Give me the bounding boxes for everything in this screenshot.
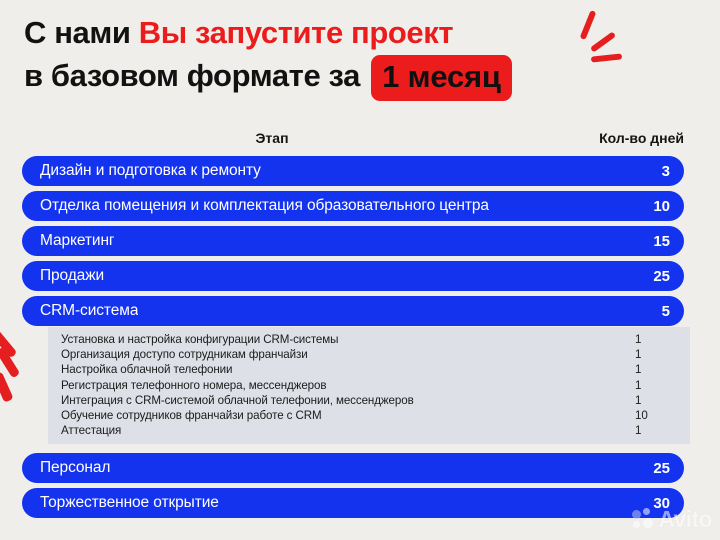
sublist-label: Интеграция с CRM-системой облачной телеф… bbox=[61, 394, 414, 407]
sublist-days: 10 bbox=[635, 409, 648, 422]
row-label: Дизайн и подготовка к ремонту bbox=[40, 162, 261, 180]
sublist-item: Аттестация 1 bbox=[48, 424, 690, 439]
sublist-item: Организация доступо сотрудникам франчайз… bbox=[48, 348, 690, 363]
sublist-days: 1 bbox=[635, 333, 641, 346]
row-days: 25 bbox=[653, 268, 670, 285]
sublist-item: Настройка облачной телефонии 1 bbox=[48, 363, 690, 378]
row-days: 25 bbox=[653, 460, 670, 477]
table-row-crm[interactable]: CRM-система 5 bbox=[22, 296, 684, 326]
row-days: 5 bbox=[662, 303, 670, 320]
title-line-1: С нами Вы запустите проект bbox=[24, 12, 624, 54]
sublist-item: Установка и настройка конфигурации CRM-с… bbox=[48, 333, 690, 348]
title-line-1-red: Вы запустите проект bbox=[139, 15, 453, 50]
sublist-label: Обучение сотрудников франчайзи работе с … bbox=[61, 409, 322, 422]
row-label: Персонал bbox=[40, 459, 110, 477]
crm-sublist-panel: Установка и настройка конфигурации CRM-с… bbox=[48, 327, 690, 444]
sublist-item: Интеграция с CRM-системой облачной телеф… bbox=[48, 394, 690, 409]
title-line-2-black: в базовом формате за bbox=[24, 58, 368, 93]
column-header-days: Кол-во дней bbox=[599, 130, 684, 146]
sublist-item: Регистрация телефонного номера, мессендж… bbox=[48, 379, 690, 394]
table-row[interactable]: Отделка помещения и комплектация образов… bbox=[22, 191, 684, 221]
title-line-1-black: С нами bbox=[24, 15, 139, 50]
title-line-2: в базовом формате за 1 месяц bbox=[24, 54, 624, 96]
column-header-stage: Этап bbox=[22, 130, 522, 146]
sublist-label: Регистрация телефонного номера, мессендж… bbox=[61, 379, 326, 392]
row-days: 30 bbox=[653, 495, 670, 512]
sublist-days: 1 bbox=[635, 348, 641, 361]
sublist-days: 1 bbox=[635, 363, 641, 376]
row-days: 10 bbox=[653, 198, 670, 215]
row-label: Отделка помещения и комплектация образов… bbox=[40, 197, 489, 215]
sublist-item: Обучение сотрудников франчайзи работе с … bbox=[48, 409, 690, 424]
page-title: С нами Вы запустите проект в базовом фор… bbox=[24, 12, 624, 96]
table-row[interactable]: Дизайн и подготовка к ремонту 3 bbox=[22, 156, 684, 186]
row-label: Маркетинг bbox=[40, 232, 114, 250]
sublist-label: Настройка облачной телефонии bbox=[61, 363, 232, 376]
sublist-days: 1 bbox=[635, 424, 641, 437]
table-row[interactable]: Торжественное открытие 30 bbox=[22, 488, 684, 518]
sublist-label: Организация доступо сотрудникам франчайз… bbox=[61, 348, 308, 361]
table-row[interactable]: Маркетинг 15 bbox=[22, 226, 684, 256]
sublist-label: Установка и настройка конфигурации CRM-с… bbox=[61, 333, 338, 346]
row-label: CRM-система bbox=[40, 302, 138, 320]
row-label: Продажи bbox=[40, 267, 104, 285]
table-row[interactable]: Персонал 25 bbox=[22, 453, 684, 483]
duration-badge: 1 месяц bbox=[371, 55, 512, 101]
table-header: Этап Кол-во дней bbox=[22, 130, 684, 150]
sublist-label: Аттестация bbox=[61, 424, 121, 437]
row-label: Торжественное открытие bbox=[40, 494, 219, 512]
table-row[interactable]: Продажи 25 bbox=[22, 261, 684, 291]
row-days: 3 bbox=[662, 163, 670, 180]
sublist-days: 1 bbox=[635, 394, 641, 407]
slide-canvas: С нами Вы запустите проект в базовом фор… bbox=[0, 0, 720, 540]
row-days: 15 bbox=[653, 233, 670, 250]
sublist-days: 1 bbox=[635, 379, 641, 392]
